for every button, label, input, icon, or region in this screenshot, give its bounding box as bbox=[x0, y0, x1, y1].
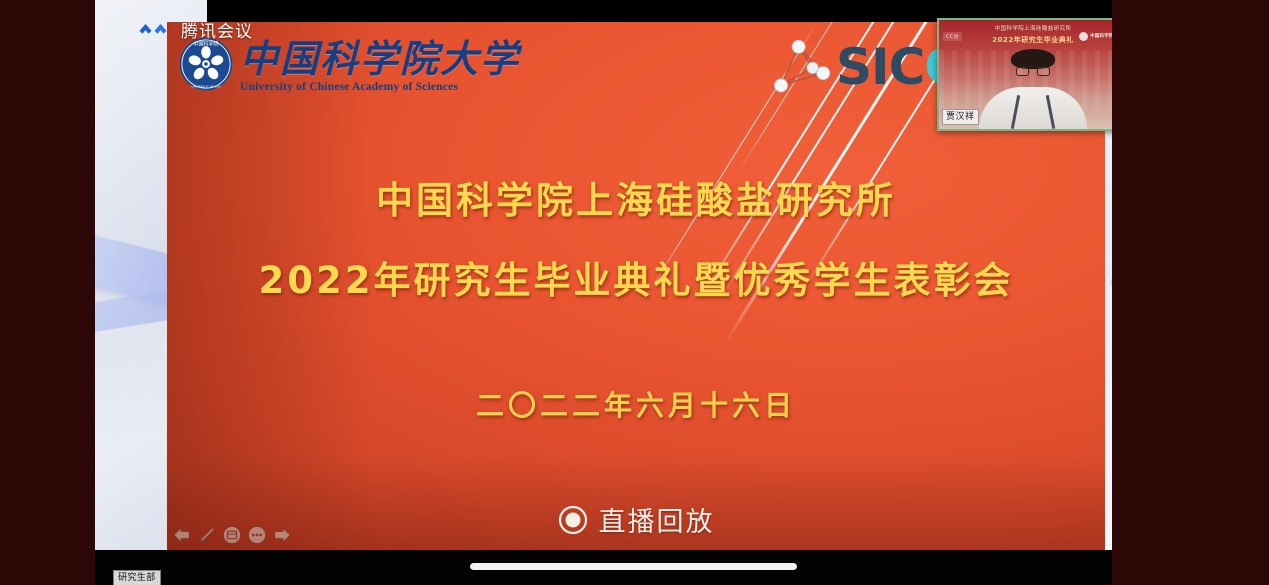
siccas-tetrahedron-icon bbox=[772, 38, 834, 96]
record-dot-icon bbox=[558, 505, 588, 535]
tencent-meeting-label: 腾讯会议 bbox=[181, 17, 253, 42]
ucas-chinese-name: 中国科学院大学 bbox=[240, 38, 520, 80]
tencent-meeting-watermark: 腾讯会议 bbox=[138, 17, 253, 42]
all-slides-icon[interactable] bbox=[221, 524, 243, 546]
previous-slide-arrow-icon[interactable] bbox=[171, 524, 193, 546]
tencent-meeting-logo-icon bbox=[138, 20, 174, 40]
backdrop-subtitle: 2022年研究生毕业典礼 bbox=[939, 35, 1127, 45]
ppt-presenter-toolbar[interactable] bbox=[171, 524, 293, 546]
svg-text:UNIVERSITY OF CAS: UNIVERSITY OF CAS bbox=[192, 85, 221, 89]
siccas-word-dark: SIC bbox=[836, 38, 924, 96]
home-indicator-bar[interactable] bbox=[470, 563, 797, 570]
live-replay-label: 直播回放 bbox=[599, 500, 715, 539]
backdrop-title: 中国科学院上海硅酸盐研究所 bbox=[939, 24, 1127, 32]
screen-root: 中国科学院 UNIVERSITY OF CAS 中国科学院大学 Universi… bbox=[0, 0, 1269, 585]
slide-title-line-1: 中国科学院上海硅酸盐研究所 bbox=[167, 174, 1105, 228]
more-options-icon[interactable] bbox=[246, 524, 268, 546]
ucas-logo: 中国科学院 UNIVERSITY OF CAS 中国科学院大学 Universi… bbox=[178, 36, 520, 93]
slide-date: 二〇二二年六月十六日 bbox=[167, 384, 1105, 424]
next-slide-arrow-icon[interactable] bbox=[271, 524, 293, 546]
slide-title-line-2: 2022年研究生毕业典礼暨优秀学生表彰会 bbox=[167, 254, 1105, 308]
ucas-seal-icon: 中国科学院 UNIVERSITY OF CAS bbox=[178, 36, 234, 92]
participant-video-tile[interactable]: CC台 中国科学院大学 中国科学院上海硅酸盐研究所 2022年研究生毕业典礼 贾… bbox=[937, 18, 1129, 131]
pen-icon[interactable] bbox=[196, 524, 218, 546]
ucas-english-name: University of Chinese Academy of Science… bbox=[240, 81, 520, 93]
participant-glasses bbox=[1016, 66, 1050, 75]
live-replay-marker: 直播回放 bbox=[167, 500, 1105, 539]
taskbar-active-window[interactable]: 研究生部 bbox=[113, 570, 161, 585]
participant-name-label: 贾汉祥 bbox=[942, 109, 979, 125]
slide-title-block: 中国科学院上海硅酸盐研究所 2022年研究生毕业典礼暨优秀学生表彰会 bbox=[167, 174, 1105, 308]
